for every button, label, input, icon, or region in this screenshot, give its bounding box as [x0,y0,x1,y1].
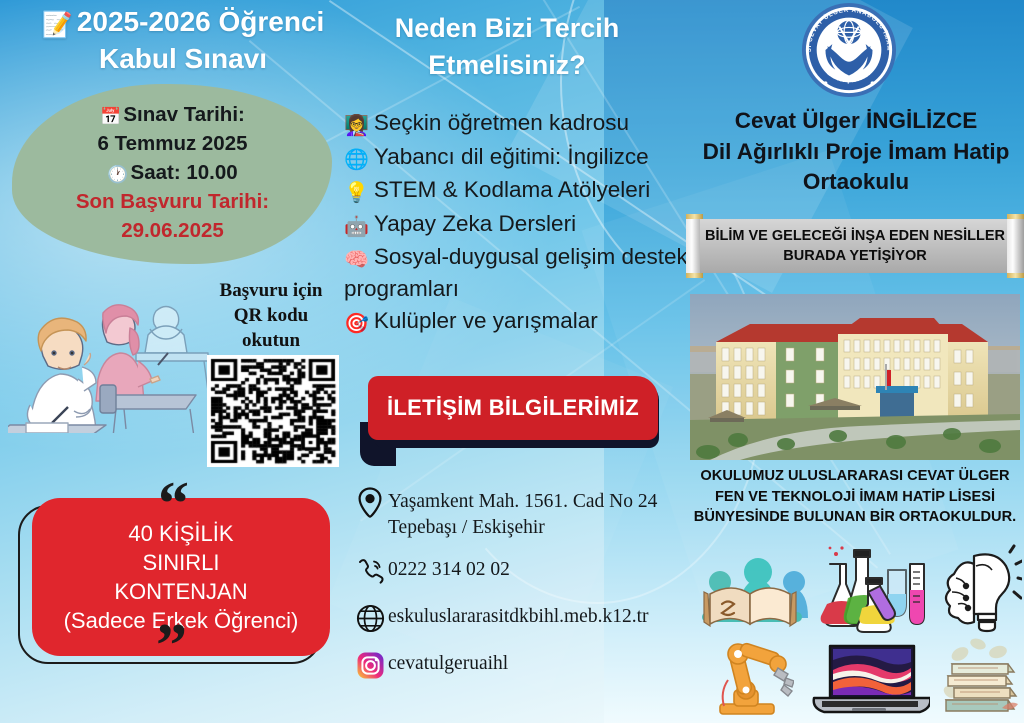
why-title-line-2: Etmelisiniz? [352,47,662,84]
robot-arm-icon [704,638,794,716]
school-building-photo [690,294,1020,460]
slogan-line-1: BİLİM VE GELECEĞİ İNŞA EDEN NESİLLER [705,226,1005,246]
contact-banner-label: İLETİŞİM BİLGİLERİMİZ [387,395,639,421]
clock-icon: 🕐 [107,165,128,184]
ai-chip-icon: 🤖 [344,216,369,238]
target-icon: 🎯 [344,313,369,335]
school-logo: ULUSLARARASI CEVAT ÜLGER ANADOLU İMAM HA… [800,1,898,99]
scroll-cap-bottom-left [686,273,703,278]
teacher-icon: 👩‍🏫 [344,115,369,137]
deadline-label: Son Başvuru Tarihi: [20,187,325,216]
quota-line-2: SINIRLI [64,548,299,577]
title-line-2: Kabul Sınavı [18,41,348,77]
why-choose-us-title: Neden Bizi Tercih Etmelisiniz? [352,10,662,83]
scroll-cap-bottom-right [1007,273,1024,278]
banner-body: İLETİŞİM BİLGİLERİMİZ [368,376,658,440]
school-name-line-3: Ortaokulu [694,167,1018,198]
lightbulb-icon: 💡 [344,182,369,204]
book-stack-icon [938,634,1024,718]
quote-open-icon: “ [158,473,189,535]
feature-label: Sosyal-duygusal gelişim destek programla… [344,244,688,301]
lab-flasks-icon [818,546,928,634]
laptop-icon [808,640,930,718]
feature-label: Kulüpler ve yarışmalar [374,308,598,333]
feature-label: STEM & Kodlama Atölyeleri [374,177,650,202]
contact-website: eskuluslararasitdkbihl.meb.k12.tr [388,601,649,630]
contact-phone: 0222 314 02 02 [388,554,510,583]
why-title-line-1: Neden Bizi Tercih [352,10,662,47]
school-name-line-1: Cevat Ülger İNGİLİZCE [694,106,1018,137]
slogan-scroll-banner: BİLİM VE GELECEĞİ İNŞA EDEN NESİLLER BUR… [686,214,1024,278]
slogan-text: BİLİM VE GELECEĞİ İNŞA EDEN NESİLLER BUR… [705,226,1005,266]
contact-list: Yaşamkent Mah. 1561. Cad No 24 Tepebaşı … [352,486,692,695]
feature-label: Yapay Zeka Dersleri [374,211,576,236]
contact-row-address: Yaşamkent Mah. 1561. Cad No 24 Tepebaşı … [352,486,692,541]
exam-info: 📅Sınav Tarihi: 6 Temmuz 2025 🕐Saat: 10.0… [20,100,325,246]
deadline-value: 29.06.2025 [20,216,325,245]
quota-callout: 40 KİŞİLİK SINIRLI KONTENJAN (Sadece Erk… [10,495,340,685]
location-pin-icon [352,486,388,520]
scroll-body: BİLİM VE GELECEĞİ İNŞA EDEN NESİLLER BUR… [700,219,1010,273]
feature-label: Yabancı dil eğitimi: İngilizce [374,144,649,169]
brain-lightbulb-icon [940,544,1022,636]
feature-item: 💡STEM & Kodlama Atölyeleri [344,175,692,207]
students-illustration [8,283,213,433]
feature-label: Seçkin öğretmen kadrosu [374,110,629,135]
exam-date-value: 6 Temmuz 2025 [20,129,325,158]
contact-banner: İLETİŞİM BİLGİLERİMİZ [360,372,665,464]
school-name-line-2: Dil Ağırlıklı Proje İmam Hatip [694,137,1018,168]
school-desc-line-3: BÜNYESİNDE BULUNAN BİR ORTAOKULDUR. [690,507,1020,528]
qr-caption-line-2: QR kodu [196,303,346,328]
qr-caption-line-3: okutun [196,328,346,353]
exam-time: Saat: 10.00 [131,161,238,184]
qr-code-canvas [207,355,339,467]
scroll-roll-right [1007,214,1024,278]
slogan-line-2: BURADA YETİŞİYOR [705,246,1005,266]
feature-item: 🌐Yabancı dil eğitimi: İngilizce [344,142,692,174]
contact-address: Yaşamkent Mah. 1561. Cad No 24 Tepebaşı … [388,486,692,541]
quote-close-icon: ” [156,615,187,677]
memo-icon: 📝 [42,11,73,39]
poster-canvas: 📝2025-2026 Öğrenci Kabul Sınavı 📅Sınav T… [0,0,1024,723]
phone-icon [352,554,388,588]
globe-icon: 🌐 [344,149,369,171]
page-title: 📝2025-2026 Öğrenci Kabul Sınavı [18,4,348,77]
feature-item: 🎯Kulüpler ve yarışmalar [344,306,692,338]
feature-item: 🧠Sosyal-duygusal gelişim destek programl… [344,242,692,304]
features-list: 👩‍🏫Seçkin öğretmen kadrosu 🌐Yabancı dil … [344,108,692,339]
feature-item: 👩‍🏫Seçkin öğretmen kadrosu [344,108,692,140]
instagram-icon [352,648,388,682]
quota-line-3: KONTENJAN [64,577,299,606]
contact-row-instagram[interactable]: cevatulgeruaihl [352,648,692,682]
qr-caption-line-1: Başvuru için [196,278,346,303]
qr-instruction: Başvuru için QR kodu okutun [196,278,346,353]
school-desc-line-2: FEN VE TEKNOLOJİ İMAM HATİP LİSESİ [690,487,1020,508]
school-description: OKULUMUZ ULUSLARARASI CEVAT ÜLGER FEN VE… [690,466,1020,528]
exam-date-label: Sınav Tarihi: [123,103,245,126]
qr-code[interactable] [207,355,339,467]
feature-item: 🤖Yapay Zeka Dersleri [344,209,692,241]
contact-instagram: cevatulgeruaihl [388,648,508,677]
title-line-1: 2025-2026 Öğrenci [77,6,325,37]
scroll-cap-top-right [1007,214,1024,219]
website-globe-icon [352,601,388,635]
contact-row-website[interactable]: eskuluslararasitdkbihl.meb.k12.tr [352,601,692,635]
feature-icon-grid [686,538,1024,720]
contact-row-phone[interactable]: 0222 314 02 02 [352,554,692,588]
brain-icon: 🧠 [344,249,369,271]
school-name: Cevat Ülger İNGİLİZCE Dil Ağırlıklı Proj… [694,106,1018,198]
quran-book-mosque-icon [692,542,810,634]
school-desc-line-1: OKULUMUZ ULUSLARARASI CEVAT ÜLGER [690,466,1020,487]
calendar-icon: 📅 [100,107,121,126]
